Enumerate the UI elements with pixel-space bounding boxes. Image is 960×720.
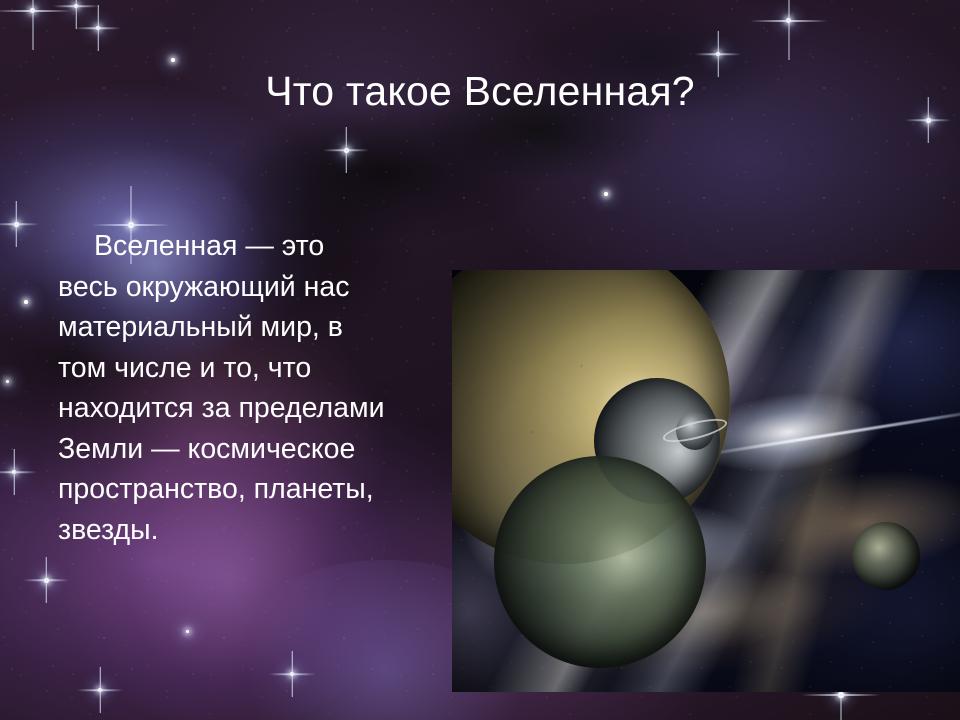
- star-left-lower: [24, 300, 28, 304]
- illustration-light-streak: [698, 406, 960, 457]
- bright-star-bottom-left: [98, 688, 102, 692]
- star-mid-right: [604, 192, 608, 196]
- star-upper-mid-left: [171, 58, 175, 62]
- illustration-planet-ringed: [668, 404, 722, 458]
- illustration-planet-green: [494, 456, 706, 668]
- illustration-planet-small-right: [852, 522, 920, 590]
- slide-body-text: Вселенная — это весь окружающий нас мате…: [58, 226, 388, 550]
- bright-star-right-upper: [926, 118, 931, 123]
- planets-nebula-illustration: [452, 270, 960, 692]
- slide-title: Что такое Вселенная?: [0, 66, 960, 116]
- bright-star-top-left-2: [74, 4, 78, 8]
- presentation-slide: Что такое Вселенная? Вселенная — это вес…: [0, 0, 960, 720]
- star-lower-center: [186, 630, 189, 633]
- bright-star-bottom-center: [290, 672, 294, 676]
- bright-star-upper-left: [96, 26, 100, 30]
- bright-star-top-right: [786, 18, 791, 23]
- bright-star-center-upper: [344, 148, 349, 153]
- bright-star-left-bottom-area: [12, 470, 16, 474]
- bright-star-left-mid: [14, 222, 19, 227]
- bright-star-title-right: [716, 52, 720, 56]
- bright-star-top-left: [30, 8, 35, 13]
- bright-star-bottom-right: [838, 692, 844, 698]
- bright-star-lower-left: [44, 578, 49, 583]
- star-left-edge: [6, 380, 9, 383]
